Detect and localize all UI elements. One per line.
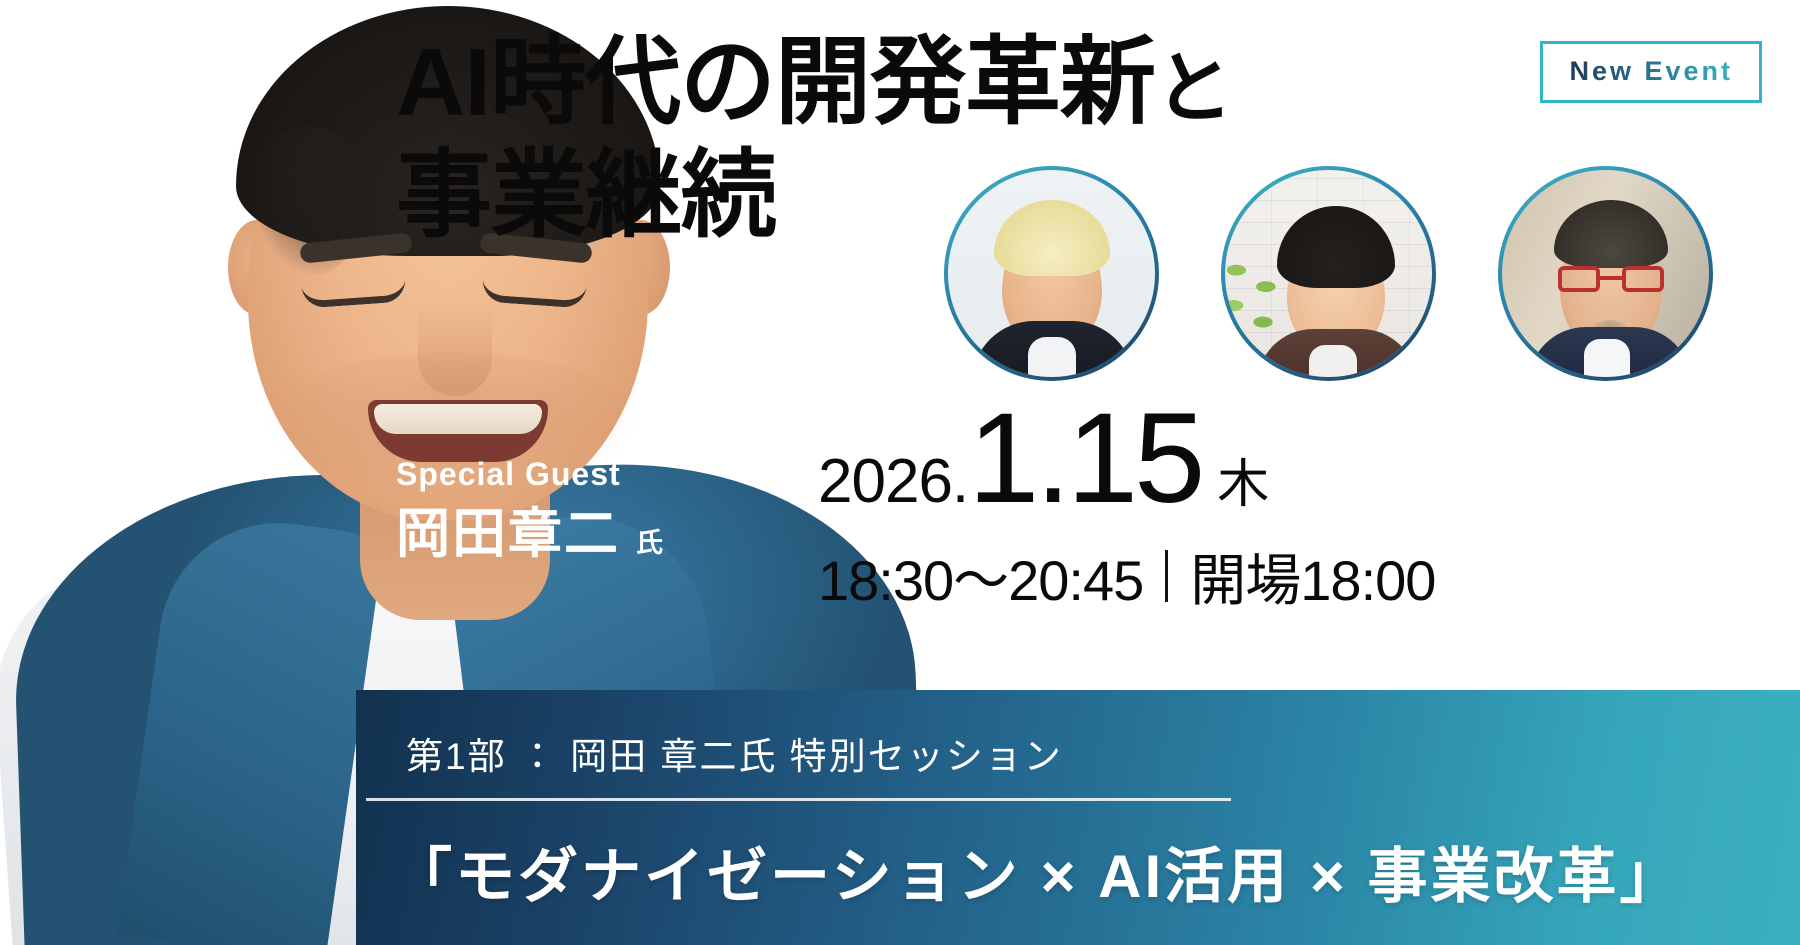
- special-guest-block: Special Guest 岡田章二 氏: [396, 455, 663, 561]
- avatar-shirt: [1584, 339, 1630, 377]
- special-guest-name-row: 岡田章二 氏: [396, 507, 663, 561]
- time-separator: [1165, 550, 1168, 602]
- event-time-range: 18:30〜20:45: [818, 536, 1143, 617]
- avatar-hair: [994, 200, 1110, 276]
- photo-nose: [418, 300, 492, 396]
- new-event-badge: New Event: [1540, 41, 1762, 103]
- event-year: 2026.: [818, 451, 968, 513]
- photo-mouth: [368, 400, 548, 462]
- avatar-glasses: [1558, 266, 1664, 292]
- session-panel: 第1部 ： 岡田 章二氏 特別セッション 「モダナイゼーション × AI活用 ×…: [356, 690, 1800, 945]
- event-day: 1.15: [968, 400, 1201, 518]
- session-part-label: 第1部 ： 岡田 章二氏 特別セッション: [406, 726, 1063, 780]
- photo-teeth: [374, 404, 542, 434]
- avatar: [1221, 166, 1436, 381]
- new-event-badge-label: New Event: [1569, 56, 1733, 87]
- special-guest-name-suffix: 氏: [636, 521, 663, 560]
- avatar-shirt: [1309, 345, 1357, 377]
- event-banner: New Event AI時代の開発革新と 事業継続: [0, 0, 1800, 945]
- event-doors-open: 開場18:00: [1190, 536, 1435, 617]
- title-line-1-main: AI時代の開発革新: [396, 29, 1155, 136]
- avatar-image: [948, 170, 1155, 377]
- avatar: [1498, 166, 1713, 381]
- avatar-image: [1225, 170, 1432, 377]
- avatar-hair: [1554, 200, 1668, 268]
- session-divider: [366, 798, 1231, 801]
- event-date-row: 2026. 1.15 木: [818, 400, 1578, 518]
- title-line-1: AI時代の開発革新と: [396, 26, 1326, 139]
- event-time-row: 18:30〜20:45 開場18:00: [818, 536, 1578, 617]
- event-datetime: 2026. 1.15 木 18:30〜20:45 開場18:00: [818, 400, 1578, 617]
- avatar-image: [1502, 170, 1709, 377]
- avatar: [944, 166, 1159, 381]
- speaker-avatar-list: [944, 166, 1713, 381]
- title-line-1-tail: と: [1155, 44, 1232, 132]
- avatar-shirt: [1028, 337, 1076, 377]
- special-guest-name: 岡田章二: [396, 507, 620, 561]
- special-guest-label: Special Guest: [396, 455, 663, 493]
- session-headline: 「モダナイゼーション × AI活用 × 事業改革」: [392, 828, 1683, 915]
- event-weekday: 木: [1217, 459, 1269, 511]
